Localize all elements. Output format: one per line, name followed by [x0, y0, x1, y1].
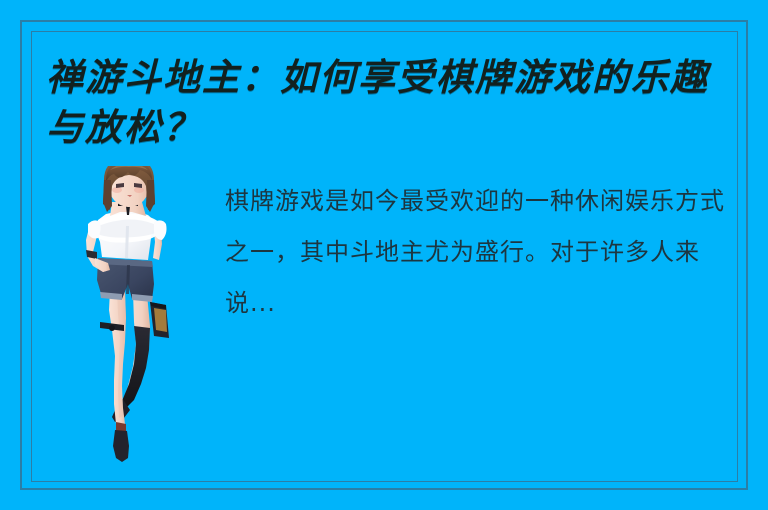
shoe-left	[113, 430, 129, 462]
stocking-right	[122, 326, 150, 407]
anime-girl-illustration	[76, 166, 184, 474]
hair-lock-left	[103, 180, 112, 212]
blush-left	[112, 187, 122, 193]
side-bag-panel	[154, 308, 167, 332]
blush-right	[134, 187, 144, 193]
sleeve-left	[88, 220, 101, 238]
hair-lock-right	[146, 180, 155, 212]
page-title: 禅游斗地主：如何享受棋牌游戏的乐趣与放松？	[46, 52, 746, 152]
article-excerpt: 棋牌游戏是如今最受欢迎的一种休闲娱乐方式之一，其中斗地主尤为盛行。对于许多人来说…	[225, 176, 725, 329]
wristband	[86, 250, 97, 259]
garter-buckle	[109, 325, 115, 331]
article-card: 禅游斗地主：如何享受棋牌游戏的乐趣与放松？ 棋牌游戏是如今最受欢迎的一种休闲娱乐…	[0, 0, 768, 510]
